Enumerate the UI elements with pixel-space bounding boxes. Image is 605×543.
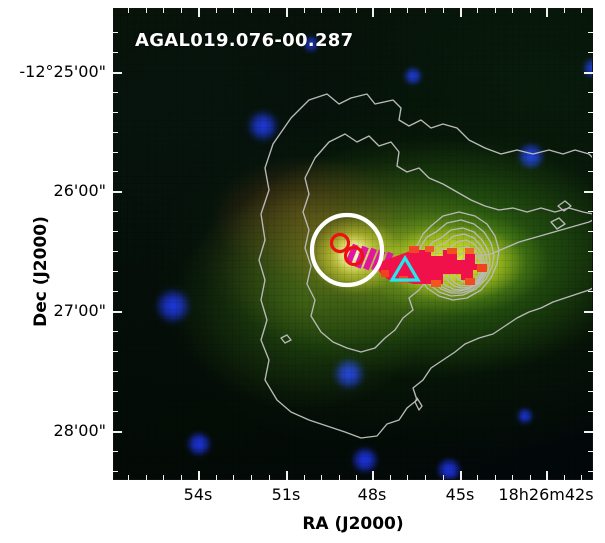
y-axis-label: Dec (J2000) [26,0,56,543]
contour-and-marker-overlay [113,8,593,480]
y-tick-label: -12°25'00" [0,62,106,81]
y-tick-label: 28'00" [0,421,106,440]
figure-root: Dec (J2000) [0,0,605,543]
sky-image-panel[interactable]: AGAL019.076-00.287 [113,8,593,480]
source-title: AGAL019.076-00.287 [135,30,353,51]
x-axis-label: RA (J2000) [113,512,593,536]
x-tick-label: 18h26m42s [476,485,605,504]
y-tick-label: 26'00" [0,181,106,200]
methanol-maser-circle-1 [332,235,349,252]
y-tick-label: 27'00" [0,301,106,320]
